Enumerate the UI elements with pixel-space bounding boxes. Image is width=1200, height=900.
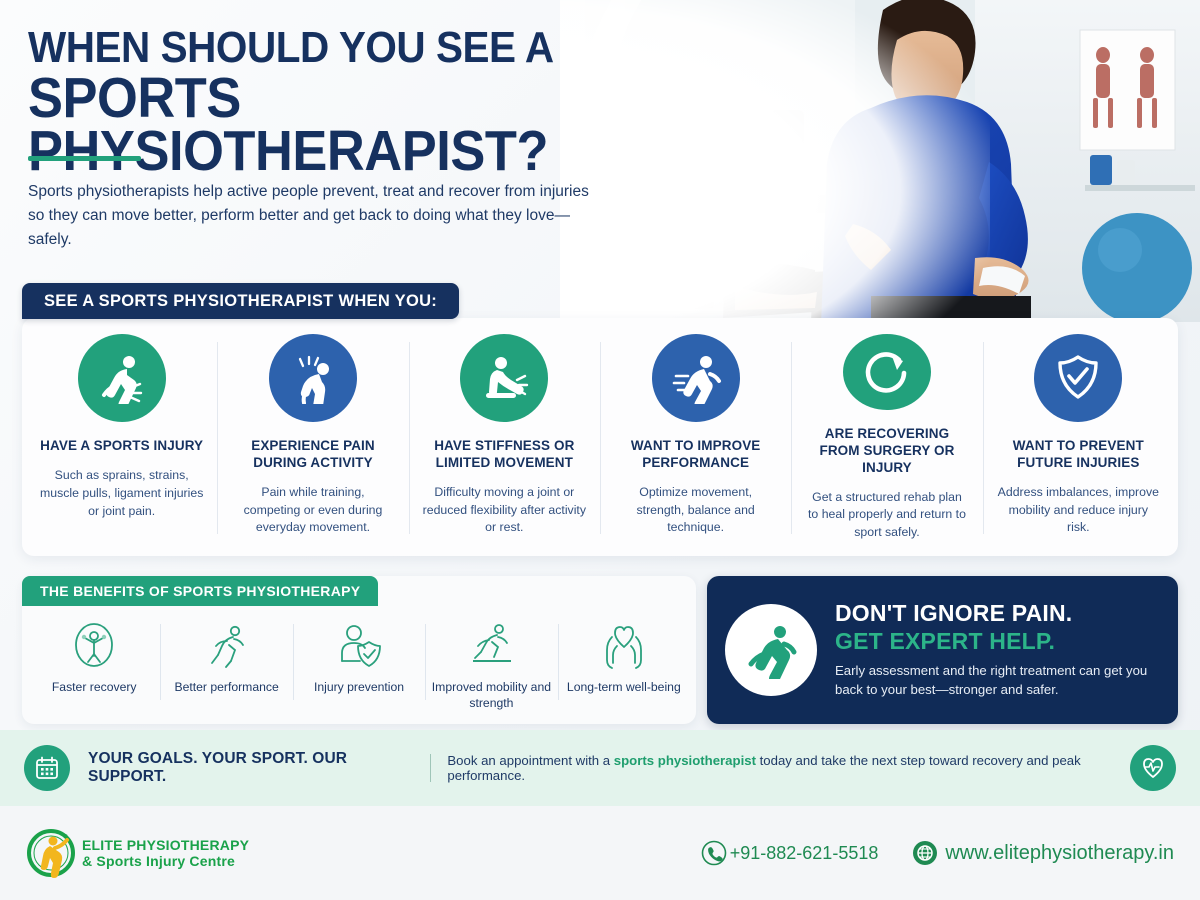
- globe-icon: [912, 840, 938, 866]
- cta-line-2: GET EXPERT HELP.: [835, 628, 1158, 655]
- benefit-item: Better performance: [160, 614, 292, 714]
- banner-copy-before: Book an appointment with a: [447, 753, 613, 768]
- benefit-label: Injury prevention: [314, 680, 404, 696]
- reason-desc: Difficulty moving a joint or reduced fle…: [423, 484, 586, 537]
- runner-performance-icon: [203, 618, 251, 674]
- reason-title: WANT TO IMPROVE PERFORMANCE: [614, 438, 777, 472]
- benefit-label: Improved mobility and strength: [429, 680, 553, 712]
- reason-title: HAVE STIFFNESS OR LIMITED MOVEMENT: [423, 438, 586, 472]
- intro-paragraph: Sports physiotherapists help active peop…: [28, 180, 608, 252]
- cta-subtext: Early assessment and the right treatment…: [835, 662, 1158, 699]
- banner-headline: YOUR GOALS. YOUR SPORT. OUR SUPPORT.: [88, 750, 414, 786]
- person-shield-icon: [335, 618, 383, 674]
- phone-icon: [701, 840, 727, 866]
- reason-item: WANT TO PREVENT FUTURE INJURIES Address …: [983, 334, 1174, 542]
- banner-divider: [430, 754, 431, 782]
- banner-copy: Book an appointment with a sports physio…: [447, 753, 1130, 783]
- cta-panel: DON'T IGNORE PAIN. GET EXPERT HELP. Earl…: [707, 576, 1178, 724]
- brand-line-2: & Sports Injury Centre: [82, 853, 249, 869]
- footer: ® ELITE PHYSIOTHERAPY & Sports Injury Ce…: [0, 806, 1200, 900]
- infographic-page: WHEN SHOULD YOU SEE A SPORTS PHYSIOTHERA…: [0, 0, 1200, 900]
- hands-heart-icon: [599, 618, 649, 674]
- sprinting-runner-icon: [652, 334, 740, 422]
- reasons-card: HAVE A SPORTS INJURY Such as sprains, st…: [22, 318, 1178, 556]
- reason-desc: Optimize movement, strength, balance and…: [614, 484, 777, 537]
- reason-item: WANT TO IMPROVE PERFORMANCE Optimize mov…: [600, 334, 791, 542]
- benefit-label: Faster recovery: [52, 680, 137, 696]
- page-title: WHEN SHOULD YOU SEE A SPORTS PHYSIOTHERA…: [28, 28, 728, 177]
- reason-desc: Such as sprains, strains, muscle pulls, …: [40, 467, 203, 520]
- website-url: www.elitephysiotherapy.in: [945, 842, 1174, 865]
- benefits-row: Faster recovery Better performance: [22, 608, 696, 724]
- brand-line-1: ELITE PHYSIOTHERAPY: [82, 837, 249, 853]
- heart-pulse-icon: [1130, 745, 1176, 791]
- benefit-label: Better performance: [174, 680, 278, 696]
- title-line-1: WHEN SHOULD YOU SEE A: [28, 28, 672, 68]
- phone-contact[interactable]: +91-882-621-5518: [701, 840, 879, 866]
- reason-title: EXPERIENCE PAIN DURING ACTIVITY: [231, 438, 394, 472]
- reason-desc: Address imbalances, improve mobility and…: [997, 484, 1160, 537]
- phone-number: +91-882-621-5518: [730, 843, 879, 864]
- back-pain-icon: [269, 334, 357, 422]
- cta-text-block: DON'T IGNORE PAIN. GET EXPERT HELP. Earl…: [835, 600, 1158, 699]
- refresh-recovery-icon: [843, 334, 931, 410]
- website-contact[interactable]: www.elitephysiotherapy.in: [912, 840, 1174, 866]
- calendar-icon: [24, 745, 70, 791]
- reasons-section-title: SEE A SPORTS PHYSIOTHERAPIST WHEN YOU:: [22, 283, 459, 319]
- seated-stiff-knee-icon: [460, 334, 548, 422]
- reason-item: EXPERIENCE PAIN DURING ACTIVITY Pain whi…: [217, 334, 408, 542]
- reason-desc: Get a structured rehab plan to heal prop…: [805, 489, 968, 542]
- benefits-section-title: THE BENEFITS OF SPORTS PHYSIOTHERAPY: [22, 576, 378, 606]
- banner-copy-highlight[interactable]: sports physiotherapist: [614, 753, 756, 768]
- reason-item: HAVE STIFFNESS OR LIMITED MOVEMENT Diffi…: [409, 334, 600, 542]
- reason-title: HAVE A SPORTS INJURY: [40, 438, 203, 455]
- brand-text: ELITE PHYSIOTHERAPY & Sports Injury Cent…: [82, 837, 249, 869]
- cta-line-1: DON'T IGNORE PAIN.: [835, 600, 1158, 627]
- appointment-banner: YOUR GOALS. YOUR SPORT. OUR SUPPORT. Boo…: [0, 730, 1200, 806]
- arms-raised-recovery-icon: [70, 618, 118, 674]
- benefit-item: Faster recovery: [28, 614, 160, 714]
- benefit-item: Injury prevention: [293, 614, 425, 714]
- reason-item: HAVE A SPORTS INJURY Such as sprains, st…: [26, 334, 217, 542]
- reason-desc: Pain while training, competing or even d…: [231, 484, 394, 537]
- reason-title: WANT TO PREVENT FUTURE INJURIES: [997, 438, 1160, 472]
- shield-check-icon: [1034, 334, 1122, 422]
- reason-title: ARE RECOVERING FROM SURGERY OR INJURY: [805, 426, 968, 477]
- runner-mobility-icon: [465, 618, 517, 674]
- title-accent-bar: [28, 156, 141, 161]
- elite-physiotherapy-logo: ®: [26, 828, 76, 878]
- benefit-item: Long-term well-being: [558, 614, 690, 714]
- svg-text:®: ®: [64, 833, 68, 840]
- benefit-label: Long-term well-being: [567, 680, 681, 696]
- title-line-2: SPORTS PHYSIOTHERAPIST?: [28, 72, 672, 177]
- running-injury-icon: [78, 334, 166, 422]
- benefit-item: Improved mobility and strength: [425, 614, 557, 714]
- reason-item: ARE RECOVERING FROM SURGERY OR INJURY Ge…: [791, 334, 982, 542]
- running-figure-icon: [725, 604, 817, 696]
- brand-logo[interactable]: ® ELITE PHYSIOTHERAPY & Sports Injury Ce…: [26, 828, 249, 878]
